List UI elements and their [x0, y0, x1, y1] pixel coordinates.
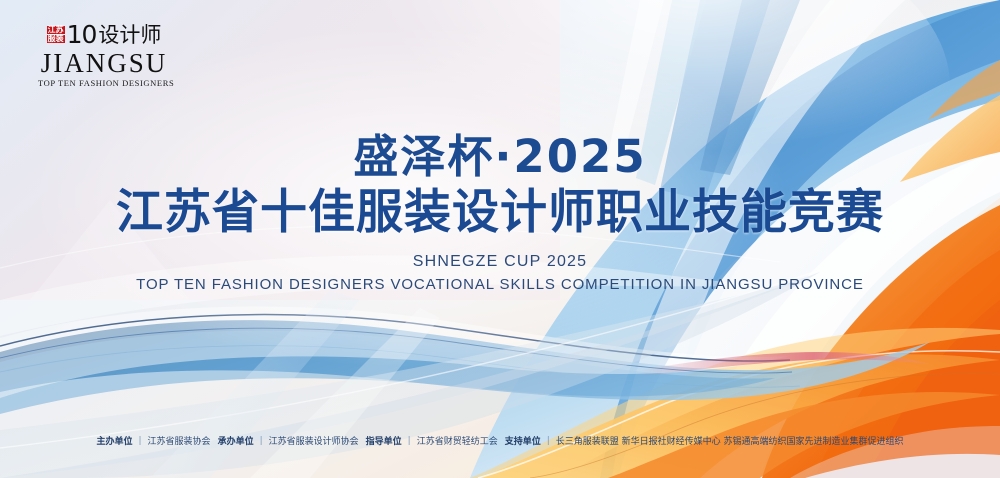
sponsor-label: 承办单位 — [218, 434, 254, 447]
sponsor-entry-host: 承办单位 | 江苏省服装设计师协会 — [218, 434, 359, 447]
sponsor-value: 江苏省服装协会 — [148, 434, 211, 447]
jiangsu-top-ten-logo: 江苏 服装 10 设计师 JIANGSU TOP TEN FASHION DES… — [38, 22, 170, 88]
event-title-primary: 盛泽杯·2025 — [0, 130, 1000, 184]
event-subtitle-en-short: SHNEGZE CUP 2025 — [0, 250, 1000, 274]
sponsor-entry-organizer: 主办单位 | 江苏省服装协会 — [96, 434, 210, 447]
sponsor-value: 江苏省财贸轻纺工会 — [417, 434, 498, 447]
sponsor-bar: 主办单位 | 江苏省服装协会 承办单位 | 江苏省服装设计师协会 指导单位 | … — [0, 434, 1000, 447]
sponsor-label: 支持单位 — [505, 434, 541, 447]
sponsor-value: 长三角服装联盟 新华日报社财经传媒中心 苏锡通高端纺织国家先进制造业集群促进组织 — [556, 434, 904, 447]
logo-ten-numeral: 10 — [67, 23, 97, 47]
logo-wordmark-row: 江苏 服装 10 设计师 — [38, 22, 170, 48]
event-title-secondary: 江苏省十佳服装设计师职业技能竞赛 — [0, 184, 1000, 242]
sponsor-separator: | — [546, 436, 551, 446]
sponsor-separator: | — [138, 436, 143, 446]
sponsor-entry-guidance: 指导单位 | 江苏省财贸轻纺工会 — [366, 434, 498, 447]
sponsor-value: 江苏省服装设计师协会 — [269, 434, 359, 447]
sponsor-separator: | — [407, 436, 412, 446]
logo-pinyin: JIANGSU — [38, 49, 170, 77]
event-subtitle-en-full: TOP TEN FASHION DESIGNERS VOCATIONAL SKI… — [0, 274, 1000, 295]
logo-badge-line1: 江苏 — [47, 26, 65, 34]
sponsor-label: 主办单位 — [96, 434, 132, 447]
logo-red-badge: 江苏 服装 — [47, 26, 65, 44]
sponsor-separator: | — [259, 436, 264, 446]
logo-badge-line2: 服装 — [47, 35, 65, 43]
sponsor-label: 指导单位 — [366, 434, 402, 447]
title-block: 盛泽杯·2025 江苏省十佳服装设计师职业技能竞赛 SHNEGZE CUP 20… — [0, 130, 1000, 295]
sponsor-entry-support: 支持单位 | 长三角服装联盟 新华日报社财经传媒中心 苏锡通高端纺织国家先进制造… — [505, 434, 904, 447]
event-banner: 江苏 服装 10 设计师 JIANGSU TOP TEN FASHION DES… — [0, 0, 1000, 478]
logo-tagline: TOP TEN FASHION DESIGNERS — [38, 78, 170, 89]
logo-designer-text: 设计师 — [98, 23, 161, 47]
